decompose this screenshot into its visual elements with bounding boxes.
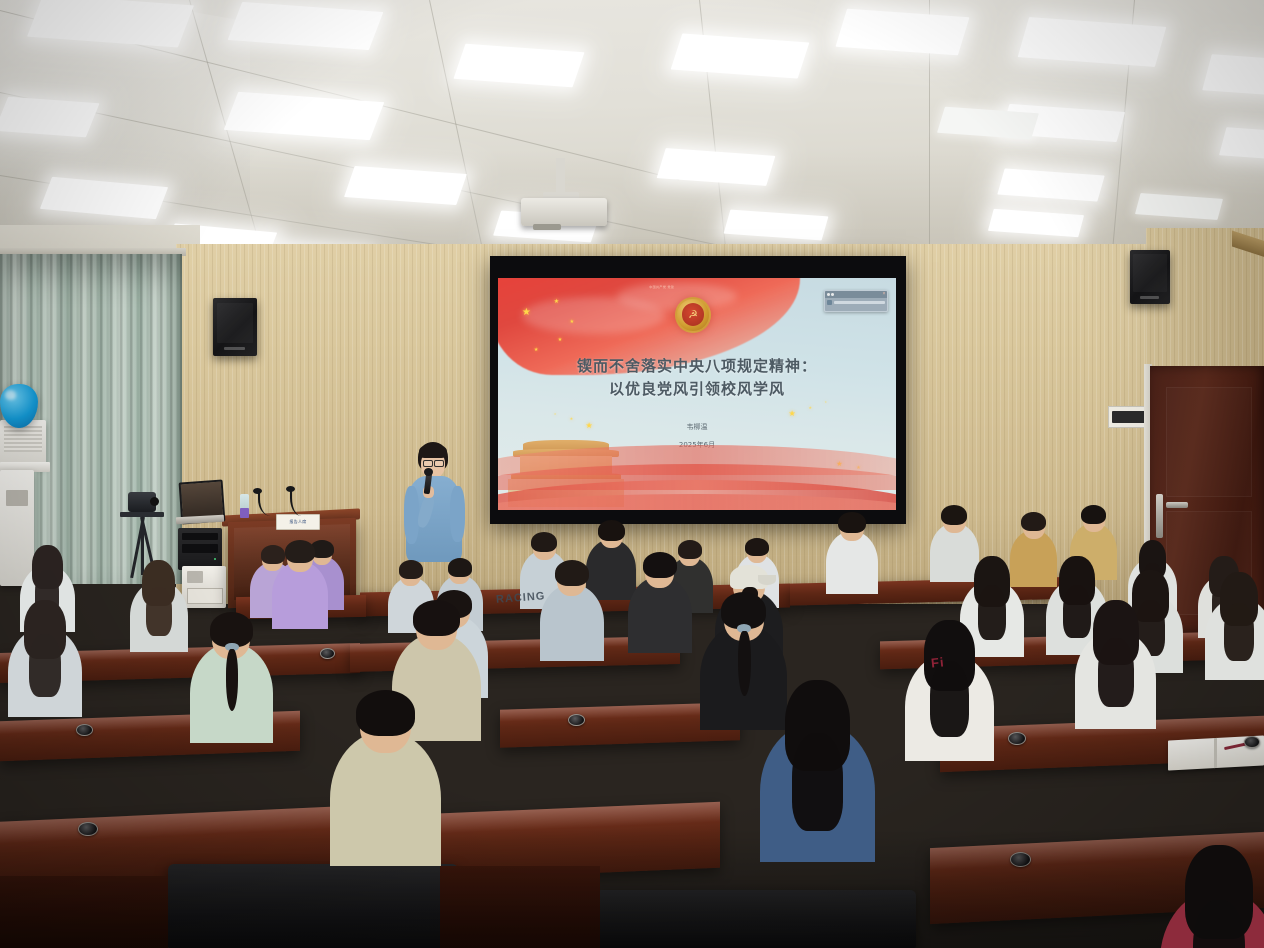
audience-hair-tail bbox=[930, 661, 969, 737]
audience-hair bbox=[448, 558, 472, 577]
audience-hair bbox=[356, 690, 415, 736]
audience-hair bbox=[531, 532, 557, 552]
audience-hair bbox=[941, 505, 967, 525]
desk-front-panel bbox=[440, 866, 600, 948]
audience-hair bbox=[210, 612, 253, 647]
audience-hair-tail bbox=[1098, 638, 1134, 707]
audience-hair bbox=[1021, 512, 1046, 531]
audience-member bbox=[628, 552, 692, 662]
audience-hair bbox=[1081, 505, 1106, 524]
audience-member bbox=[826, 512, 878, 602]
audience-member bbox=[1160, 845, 1264, 948]
audience-hair bbox=[643, 552, 677, 578]
audience-hair-tail bbox=[146, 587, 171, 636]
shirt-graphic-fi: Fi bbox=[930, 654, 945, 670]
audience-hair bbox=[598, 520, 625, 541]
audience-member bbox=[330, 690, 441, 882]
audience-member bbox=[272, 540, 328, 637]
audience-hair bbox=[555, 560, 589, 586]
desk-cable-port bbox=[1010, 852, 1031, 867]
notebook-spine bbox=[1214, 738, 1217, 768]
audience-member bbox=[540, 560, 604, 670]
audience-hair bbox=[285, 540, 315, 563]
audience-member bbox=[130, 560, 188, 660]
audience-hair bbox=[745, 538, 769, 556]
audience-hair bbox=[838, 512, 866, 533]
audience-member bbox=[905, 620, 994, 774]
cap-brim bbox=[758, 575, 775, 585]
audience-hair bbox=[721, 592, 766, 629]
lecture-hall-photo: ★ ★ ★ ★ ★ ☭ 中国共产党 党建 × bbox=[0, 0, 1264, 948]
audience-hair bbox=[399, 560, 423, 579]
desk-front-panel bbox=[0, 876, 168, 948]
audience-hair-tail bbox=[29, 634, 62, 697]
desk-cable-port bbox=[78, 822, 98, 836]
audience-hair-tail bbox=[792, 733, 843, 831]
audience-member bbox=[1075, 600, 1156, 741]
audience-hair-tail bbox=[1224, 603, 1254, 661]
chair-back[interactable] bbox=[596, 890, 916, 948]
audience-hair bbox=[413, 600, 460, 636]
desk-cable-port bbox=[568, 714, 585, 726]
desk-cable-port bbox=[320, 648, 335, 659]
audience-member bbox=[190, 612, 273, 755]
ponytail bbox=[738, 631, 751, 697]
audience-member bbox=[760, 680, 875, 878]
audience-member bbox=[8, 600, 82, 728]
audience-member bbox=[1205, 572, 1264, 690]
desk-cable-port bbox=[1008, 732, 1026, 745]
desk-cable-port bbox=[1244, 736, 1260, 748]
